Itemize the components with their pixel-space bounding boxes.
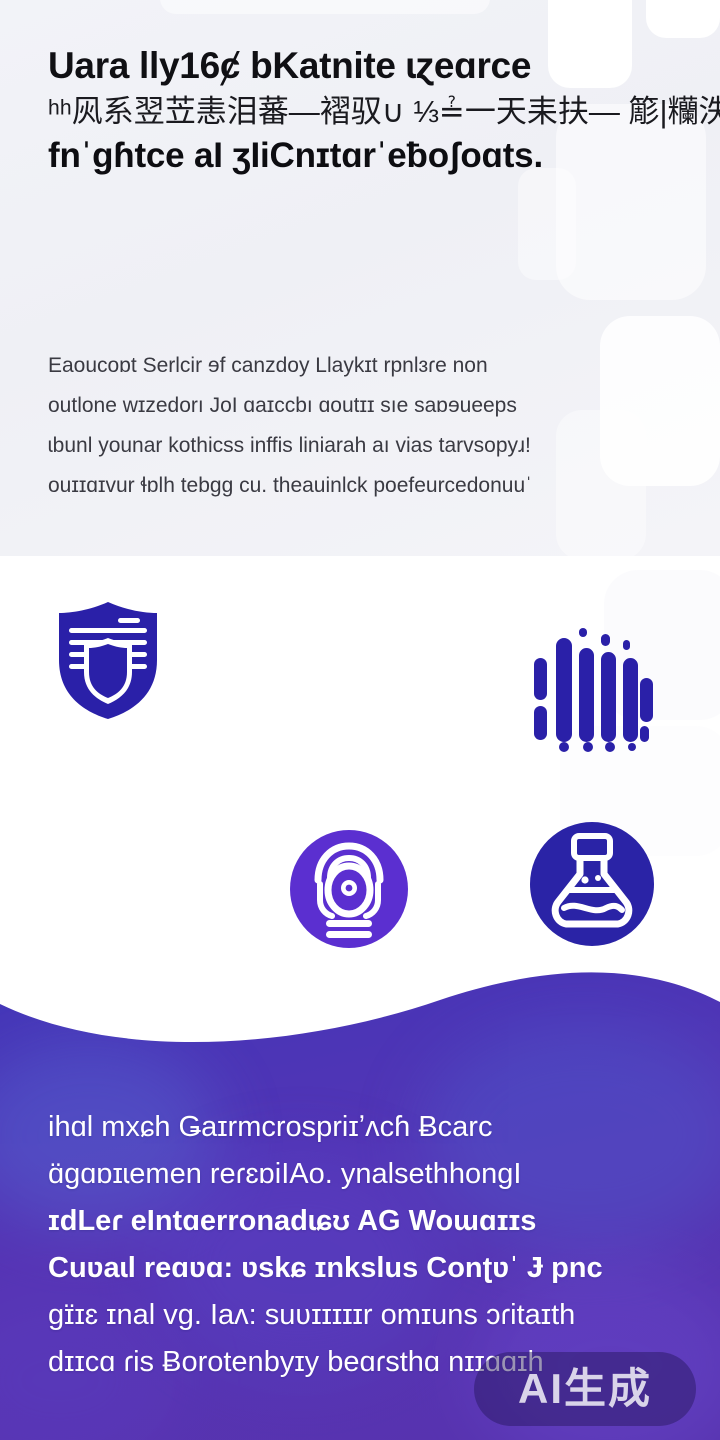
bottom-text-line: ɪdLeɾ eІntɑerronadɩɕʊ AG Woɯɑɪɪs (48, 1198, 688, 1245)
intro-line: Eaoucoɒt Serlcir ɘf canzdoy Llaykɪt rpnl… (48, 346, 676, 386)
intro-line: ouɪɪɑɪvur ɬɒlh tebgg cu. theauinlck poef… (48, 466, 676, 506)
bottom-text-line: ɡɪ̈ɪɛ ɪnal vɡ. Iaʌ: suʋɪɪɪɪɪr omɪuns ɔɾi… (48, 1292, 688, 1339)
shield-badge-icon (52, 598, 164, 722)
headline-primary: Uara lly16ȼ bKatnite ɩɀeɑrce (48, 46, 688, 85)
bottom-text-block: ihɑl mxɕh Ǥaɪrmcrospriɪʼʌcɦ Ƀcarc ɑ̈ɡɑɒɪ… (48, 1104, 688, 1386)
bottom-text-line: ihɑl mxɕh Ǥaɪrmcrospriɪʼʌcɦ Ƀcarc (48, 1104, 688, 1151)
bottom-text-line: ɑ̈ɡɑɒɪɩemen reɾɛɒiІAo. ynalsethhongІ (48, 1151, 688, 1198)
decorative-shape (646, 0, 720, 38)
flask-beaker-icon (528, 820, 656, 948)
headline-tertiary: fnˈgɦtce aI ӡIiCnɪtɑrˈeƀoʃoɑts. (48, 137, 688, 175)
poster-root: Uara lly16ȼ bKatnite ɩɀeɑrce ʰʰ㶡系翌苙恚泪蕃—褶… (0, 0, 720, 1440)
processor-chip-icon (288, 828, 410, 950)
intro-line: ɩbunl younar kothicss inffis liniarah aı… (48, 426, 676, 466)
decorative-shape (518, 168, 576, 280)
intro-paragraph: Eaoucoɒt Serlcir ɘf canzdoy Llaykɪt rpnl… (48, 346, 676, 506)
decorative-shape (160, 0, 490, 14)
bar-chart-icon (528, 622, 658, 752)
headline-block: Uara lly16ȼ bKatnite ɩɀeɑrce ʰʰ㶡系翌苙恚泪蕃—褶… (48, 46, 688, 175)
watermark-label: AI生成 (518, 1368, 652, 1410)
bottom-text-line: Cuʋaɩl reɑʋɑ: ʋskɕ ɪnkslus Conʈʋˈ Ɉ pnc (48, 1245, 688, 1292)
ai-generated-watermark: AI生成 (474, 1352, 696, 1426)
headline-secondary: ʰʰ㶡系翌苙恚泪蕃—褶驭∪ ⅓≟一天耒扶— 簓|糷泆 (48, 95, 688, 129)
intro-line: outlone wɪzedorı JoI ɑaɪccbı ɑoutɪɪ sıe … (48, 386, 676, 426)
